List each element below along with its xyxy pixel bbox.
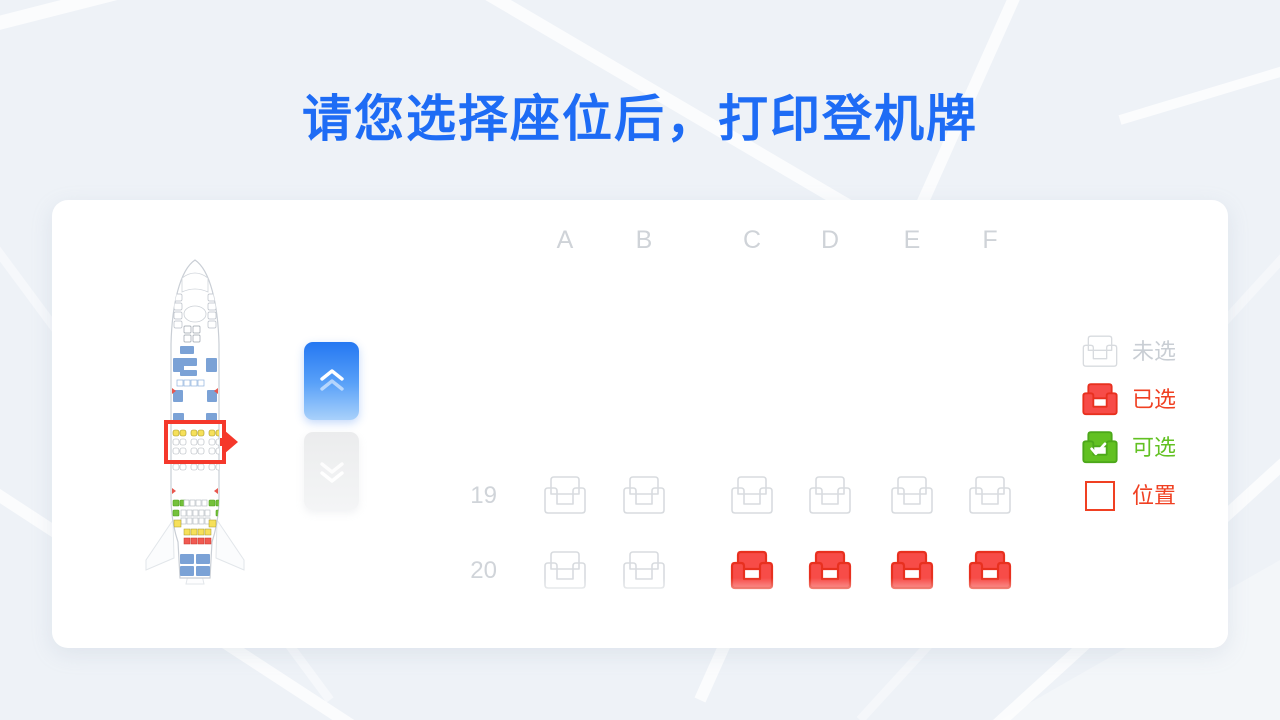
- legend-label-available: 可选: [1132, 437, 1176, 459]
- seat-19C[interactable]: [728, 474, 776, 518]
- seat-20B[interactable]: [620, 549, 668, 593]
- seat-legend: 未选已选可选位置: [1080, 328, 1220, 520]
- legend-label-selected: 已选: [1132, 389, 1176, 411]
- seat-20A[interactable]: [541, 549, 589, 593]
- legend-item-unselected: 未选: [1080, 328, 1220, 376]
- position-box-shape: [1085, 481, 1115, 511]
- seat-selection-card: ABCDEF1920212223 未选已选可选位置: [52, 200, 1228, 648]
- seat-19E[interactable]: [888, 474, 936, 518]
- seat-21D[interactable]: [806, 624, 854, 648]
- seat-20C[interactable]: [728, 549, 776, 593]
- legend-item-selected: 已选: [1080, 376, 1220, 424]
- seat-21E[interactable]: [888, 624, 936, 648]
- column-label-C: C: [728, 226, 776, 255]
- column-label-A: A: [541, 226, 589, 255]
- seat-19F[interactable]: [966, 474, 1014, 518]
- seat-selected-icon: [1080, 380, 1120, 420]
- legend-item-available: 可选: [1080, 424, 1220, 472]
- legend-label-unselected: 未选: [1132, 341, 1176, 363]
- seat-21B[interactable]: [620, 624, 668, 648]
- row-label-19: 19: [453, 482, 497, 510]
- seat-21A[interactable]: [541, 624, 589, 648]
- seat-20F[interactable]: [966, 549, 1014, 593]
- seat-unselected-icon: [1080, 332, 1120, 372]
- legend-item-position: 位置: [1080, 472, 1220, 520]
- seat-selection-screen: 请您选择座位后，打印登机牌: [0, 0, 1280, 720]
- column-label-F: F: [966, 226, 1014, 255]
- seat-20E[interactable]: [888, 549, 936, 593]
- row-label-20: 20: [453, 557, 497, 585]
- position-box-icon: [1080, 476, 1120, 516]
- seat-20D[interactable]: [806, 549, 854, 593]
- column-label-D: D: [806, 226, 854, 255]
- seat-available-icon: [1080, 428, 1120, 468]
- seat-21F[interactable]: [966, 624, 1014, 648]
- seat-19B[interactable]: [620, 474, 668, 518]
- seat-grid: ABCDEF1920212223: [52, 200, 1228, 648]
- page-title: 请您选择座位后，打印登机牌: [0, 88, 1280, 150]
- seat-19A[interactable]: [541, 474, 589, 518]
- seat-21C[interactable]: [728, 624, 776, 648]
- column-label-E: E: [888, 226, 936, 255]
- legend-label-position: 位置: [1132, 485, 1176, 507]
- column-label-B: B: [620, 226, 668, 255]
- row-label-21: 21: [453, 632, 497, 648]
- seat-19D[interactable]: [806, 474, 854, 518]
